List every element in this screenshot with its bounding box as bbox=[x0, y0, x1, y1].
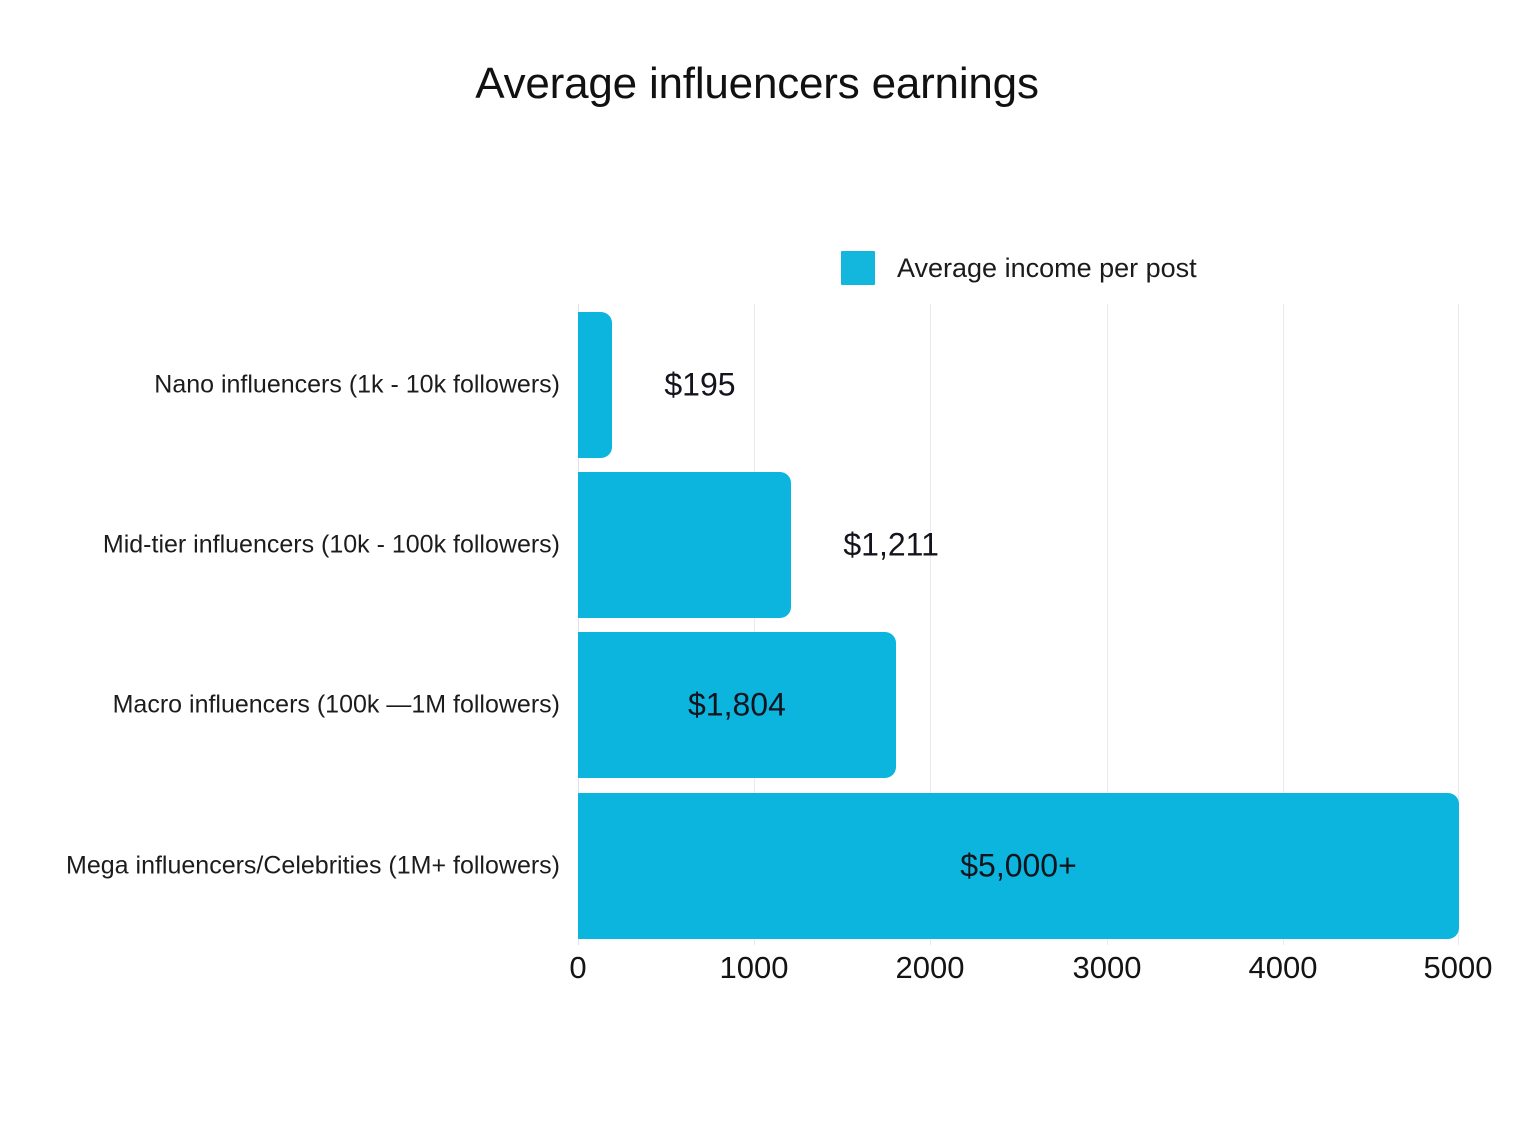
bar-mid-tier[interactable] bbox=[578, 472, 791, 618]
x-tick-label: 3000 bbox=[1073, 950, 1142, 986]
bar-value-label: $195 bbox=[664, 367, 735, 404]
category-label: Mega influencers/Celebrities (1M+ follow… bbox=[0, 852, 560, 881]
category-label: Macro influencers (100k —1M followers) bbox=[0, 691, 560, 720]
bar-value-label: $5,000+ bbox=[960, 848, 1077, 885]
chart-canvas: Average influencers earnings Average inc… bbox=[0, 0, 1514, 1136]
legend-item-label: Average income per post bbox=[897, 253, 1197, 284]
bar-value-label: $1,211 bbox=[843, 527, 939, 564]
bar-value-label: $1,804 bbox=[688, 687, 786, 724]
bar-row: $1,211 bbox=[578, 472, 1459, 618]
x-tick-label: 1000 bbox=[720, 950, 789, 986]
category-label: Mid-tier influencers (10k - 100k followe… bbox=[0, 531, 560, 560]
x-tick-label: 0 bbox=[569, 950, 586, 986]
bar-nano[interactable] bbox=[578, 312, 612, 458]
x-tick-label: 5000 bbox=[1424, 950, 1493, 986]
plot-area: $195 $1,211 $1,804 $5,000+ bbox=[578, 304, 1459, 945]
bar-row: $5,000+ bbox=[578, 793, 1459, 939]
category-label: Nano influencers (1k - 10k followers) bbox=[0, 371, 560, 400]
bar-row: $195 bbox=[578, 312, 1459, 458]
bar-row: $1,804 bbox=[578, 632, 1459, 778]
y-axis-category-labels: Nano influencers (1k - 10k followers) Mi… bbox=[0, 304, 560, 945]
chart-legend: Average income per post bbox=[841, 248, 1197, 288]
x-axis-tick-labels: 0 1000 2000 3000 4000 5000 bbox=[578, 950, 1459, 996]
legend-swatch-icon bbox=[841, 251, 875, 285]
page-title: Average influencers earnings bbox=[0, 58, 1514, 111]
x-tick-label: 2000 bbox=[896, 950, 965, 986]
x-tick-label: 4000 bbox=[1249, 950, 1318, 986]
